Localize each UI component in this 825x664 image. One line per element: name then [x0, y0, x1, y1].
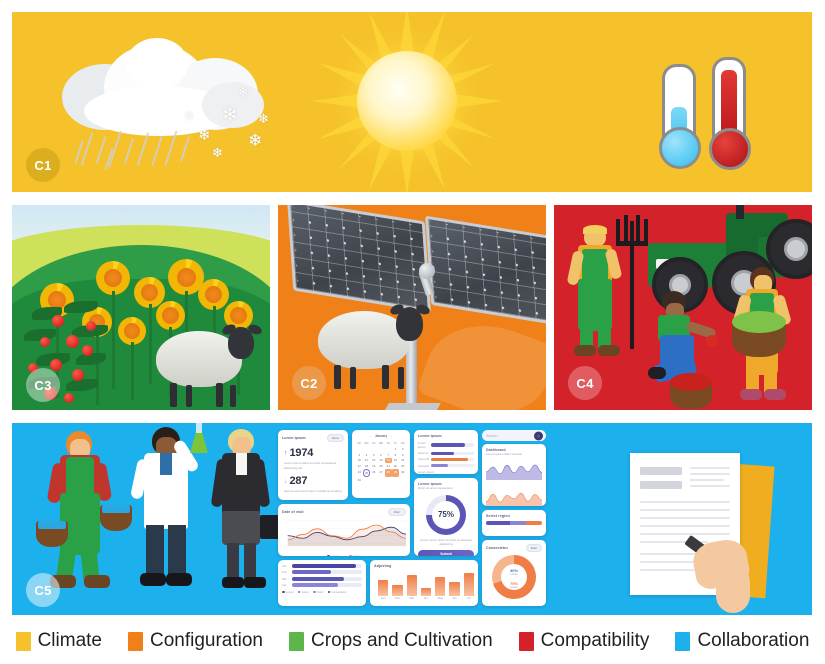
dashboard-icon: Lorem ipsum Menu ↑ 1974 Lorem ipsum dolo…: [278, 428, 546, 610]
panel-c2-configuration: C2: [278, 205, 546, 410]
donut-card-title: Consectetur: [486, 546, 508, 550]
ranking-card-title: Lorem ipsum: [418, 434, 474, 438]
progress-submit-button[interactable]: Submit: [418, 550, 474, 557]
kpi-card[interactable]: Lorem ipsum Menu ↑ 1974 Lorem ipsum dolo…: [278, 430, 348, 500]
legend-swatch-crops: [289, 632, 304, 651]
progress-caption: Lorem ipsum dolor sit amet consectetur a…: [418, 538, 474, 547]
bar-chart-ticks: JanFebMarAprMayJunJul: [374, 596, 474, 600]
donut-primary-label: Lorem: [510, 573, 518, 576]
bar-card-title: Adjusting: [374, 564, 474, 568]
sunflower-icon: [96, 261, 130, 295]
progress-value: 75%: [438, 510, 454, 519]
segment-bar: [486, 521, 542, 525]
calendar-next-icon[interactable]: ›: [391, 434, 392, 438]
panel-c1-climate: ❄ ❄ ❄ ❄ ❄ ❄ ❄: [12, 12, 812, 192]
donut-card-filter-button[interactable]: Filter: [526, 544, 542, 552]
legend-swatch-collaboration: [675, 632, 690, 651]
hbar-legend: LoremIpsumDolorConsectetur: [282, 590, 362, 594]
progress-donut: 75%: [426, 495, 466, 535]
legend-item-configuration[interactable]: Configuration: [128, 630, 263, 652]
legend-swatch-climate: [16, 632, 31, 651]
legend-item-crops[interactable]: Crops and Cultivation: [289, 630, 493, 652]
legend-label-collaboration: Collaboration: [697, 630, 809, 652]
area-chart-series-b: [486, 487, 542, 507]
ranking-card[interactable]: Lorem ipsum Lorem ipsumDolor sitAmet eli…: [414, 430, 478, 474]
calendar-day-grid[interactable]: 1234567891011121314151617181920212223242…: [356, 446, 406, 482]
panel-c4-compatibility: C4: [554, 205, 812, 410]
legend-item-compatibility[interactable]: Compatibility: [519, 630, 650, 652]
segment-card-title: Select region: [486, 514, 542, 518]
donut-card[interactable]: Consectetur Filter 30% Lorem 75% Ipsum: [482, 540, 546, 606]
progress-card[interactable]: Lorem ipsum Dolor sit amet consectetur 7…: [414, 478, 478, 556]
dashboard-search[interactable]: Search... ○: [482, 430, 546, 441]
wrist: [716, 565, 750, 613]
kpi-down-caption: Sed do eiusmod tempor incididunt ut labo…: [284, 489, 342, 494]
pitchfork-bar: [616, 241, 648, 246]
legend-label-climate: Climate: [38, 630, 102, 652]
calendar-day-headers: SuMoTuWeThFrSa: [356, 440, 406, 445]
thermometer-hot-icon: [712, 57, 746, 157]
area-chart-card[interactable]: Dashboard Lorem ipsum dolor sit amet: [482, 444, 546, 506]
sheep-icon: [314, 301, 434, 389]
exhaust-pipe: [736, 205, 744, 219]
line-card-title: Date of visit: [282, 510, 304, 514]
panel-c5-collaboration: Lorem ipsum Menu ↑ 1974 Lorem ipsum dolo…: [12, 423, 812, 615]
legend-label-compatibility: Compatibility: [541, 630, 650, 652]
legend-item-collaboration[interactable]: Collaboration: [675, 630, 809, 652]
kpi-up-value: 1974: [290, 447, 314, 459]
bucket-water: [38, 521, 66, 529]
progress-card-subtitle: Dolor sit amet consectetur: [418, 486, 474, 491]
legend-swatch-configuration: [128, 632, 143, 651]
thermometer-cold-icon: [662, 64, 696, 156]
legend-bar: Climate Configuration Crops and Cultivat…: [0, 618, 825, 664]
arrow-up-icon: ↑: [284, 450, 288, 457]
red-apples: [670, 373, 712, 391]
search-icon[interactable]: ○: [534, 431, 543, 440]
bar-chart: [374, 570, 474, 596]
hbar-rows: JanFebMarApr: [282, 564, 362, 587]
legend-item-climate[interactable]: Climate: [16, 630, 102, 652]
panel-badge-c4: C4: [568, 366, 602, 400]
line-chart-legend: LoremIpsum: [282, 554, 406, 556]
line-chart-card[interactable]: Date of visit Filter LoremIpsum: [278, 504, 410, 556]
flask-neck: [196, 423, 202, 433]
line-card-filter-button[interactable]: Filter: [388, 508, 406, 516]
ranking-rows: Lorem ipsumDolor sitAmet elitConsectetur: [418, 441, 474, 468]
donut-chart: 30% Lorem 75% Ipsum: [492, 555, 536, 599]
calendar-prev-icon[interactable]: ‹: [370, 434, 371, 438]
solar-panel-base: [383, 403, 441, 410]
segment-card[interactable]: Select region LoremIpsumDolor: [482, 510, 546, 536]
hbar-card[interactable]: JanFebMarApr LoremIpsumDolorConsectetur: [278, 560, 366, 606]
rain-snow-cloud-icon: ❄ ❄ ❄ ❄ ❄ ❄ ❄: [52, 36, 287, 176]
kpi-card-title: Lorem ipsum: [282, 436, 306, 440]
kpi-card-menu-button[interactable]: Menu: [327, 434, 344, 442]
calendar-widget[interactable]: ‹ January › SuMoTuWeThFrSa 1234567891011…: [352, 430, 410, 498]
ranking-footer: Lorem ipsum: [418, 470, 474, 474]
donut-secondary-label: Ipsum: [510, 586, 518, 589]
green-apples: [732, 311, 786, 333]
bucket-water: [102, 505, 130, 513]
panel-badge-c5: C5: [26, 573, 60, 607]
sheep-icon: [152, 323, 264, 409]
area-chart-series-a: [486, 459, 542, 480]
panel-badge-c3: C3: [26, 368, 60, 402]
line-chart: [282, 518, 406, 548]
kpi-down-value: 287: [290, 475, 308, 487]
infographic-stage: ❄ ❄ ❄ ❄ ❄ ❄ ❄: [0, 0, 825, 664]
panel-c3-crops: C3: [12, 205, 270, 410]
document-signing-icon: [620, 439, 800, 611]
kpi-up-caption: Lorem ipsum dolor sit amet consectetur a…: [284, 461, 342, 470]
legend-label-crops: Crops and Cultivation: [311, 630, 493, 652]
farmer-with-pitchfork-icon: [570, 227, 634, 363]
sun-icon: [312, 12, 502, 192]
panel-badge-c1: C1: [26, 148, 60, 182]
segment-legend: LoremIpsumDolor: [486, 528, 542, 536]
legend-label-configuration: Configuration: [150, 630, 263, 652]
bar-card[interactable]: Adjusting JanFebMarAprMayJunJul: [370, 560, 478, 606]
legend-swatch-compatibility: [519, 632, 534, 651]
calendar-month: January: [375, 434, 387, 438]
arrow-down-icon: ↓: [284, 478, 288, 485]
area-card-subtitle: Lorem ipsum dolor sit amet: [486, 452, 542, 457]
panel-badge-c2: C2: [292, 366, 326, 400]
